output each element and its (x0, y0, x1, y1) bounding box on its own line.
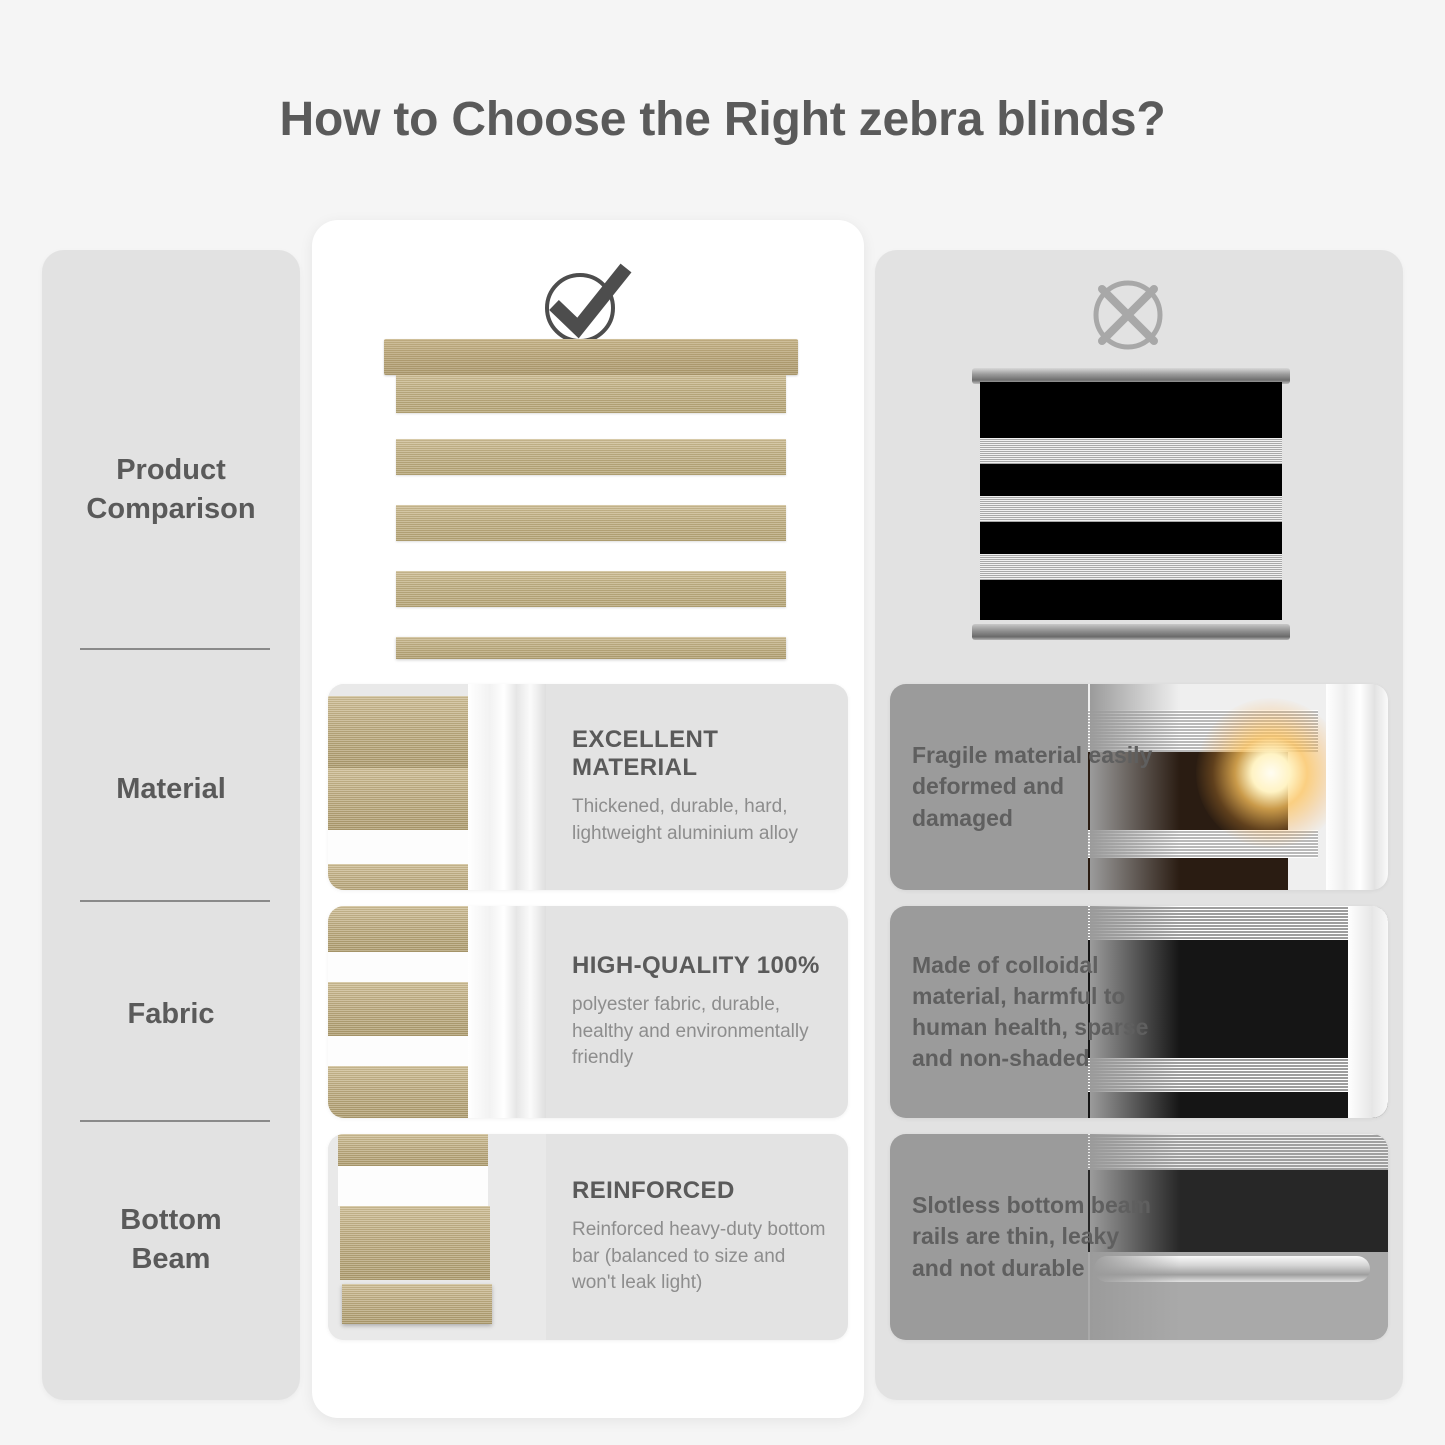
bad-feature-text-fabric: Made of colloidal material, harmful to h… (912, 906, 1162, 1118)
blind-band (396, 439, 786, 475)
good-feature-card-material: EXCELLENT MATERIAL Thickened, durable, h… (328, 684, 848, 890)
blind-band (396, 375, 786, 413)
good-feature-desc-material: Thickened, durable, hard, lightweight al… (572, 794, 834, 848)
sidebar-label-material: Material (116, 770, 226, 809)
page-title: How to Choose the Right zebra blinds? (0, 92, 1445, 147)
black-zebra-blind-image (972, 368, 1290, 640)
sidebar-divider-2 (80, 900, 270, 902)
category-sidebar: Product Comparison Material Fabric Botto… (42, 250, 300, 1400)
blind-band (396, 505, 786, 541)
sidebar-divider-1 (80, 648, 270, 650)
good-feature-card-bottom-beam: REINFORCED Reinforced heavy-duty bottom … (328, 1134, 848, 1340)
sidebar-row-fabric: Fabric (42, 975, 300, 1055)
bad-feature-text-bottom-beam: Slotless bottom beam rails are thin, lea… (912, 1134, 1162, 1340)
sidebar-row-bottom-beam: Bottom Beam (42, 1180, 300, 1300)
good-feature-photo-fabric (328, 906, 546, 1118)
blind-fabric (980, 382, 1282, 620)
bad-feature-card-bottom-beam: Slotless bottom beam rails are thin, lea… (890, 1134, 1388, 1340)
sidebar-label-bottom-beam: Bottom Beam (120, 1201, 221, 1279)
sidebar-label-fabric: Fabric (127, 995, 214, 1034)
bad-feature-card-fabric: Made of colloidal material, harmful to h… (890, 906, 1388, 1118)
good-feature-desc-fabric: polyester fabric, durable, healthy and e… (572, 992, 834, 1073)
good-feature-desc-bottom-beam: Reinforced heavy-duty bottom bar (balanc… (572, 1217, 834, 1298)
good-feature-text-bottom-beam: REINFORCED Reinforced heavy-duty bottom … (572, 1134, 834, 1340)
good-feature-text-material: EXCELLENT MATERIAL Thickened, durable, h… (572, 684, 834, 890)
check-circle-icon (538, 258, 638, 348)
sidebar-divider-3 (80, 1120, 270, 1122)
sidebar-label-product-comparison: Product Comparison (86, 451, 255, 529)
good-feature-photo-material (328, 684, 546, 890)
bad-feature-desc-fabric: Made of colloidal material, harmful to h… (912, 950, 1162, 1074)
sidebar-row-material: Material (42, 750, 300, 830)
good-feature-text-fabric: HIGH-QUALITY 100% polyester fabric, dura… (572, 906, 834, 1118)
good-feature-card-fabric: HIGH-QUALITY 100% polyester fabric, dura… (328, 906, 848, 1118)
blind-bottom-bar (972, 624, 1290, 640)
bad-feature-desc-bottom-beam: Slotless bottom beam rails are thin, lea… (912, 1190, 1162, 1283)
bad-feature-card-material: Fragile material easily deformed and dam… (890, 684, 1388, 890)
blind-band (396, 571, 786, 607)
sidebar-row-product-comparison: Product Comparison (42, 430, 300, 550)
cross-circle-icon (1085, 272, 1171, 358)
bad-feature-text-material: Fragile material easily deformed and dam… (912, 684, 1162, 890)
blind-headrail (384, 339, 798, 375)
blind-bottom-bar (396, 637, 786, 659)
beige-zebra-blind-image (384, 339, 798, 669)
bad-feature-desc-material: Fragile material easily deformed and dam… (912, 740, 1162, 833)
good-feature-photo-bottom-beam (328, 1134, 546, 1340)
good-feature-title-fabric: HIGH-QUALITY 100% (572, 952, 834, 980)
good-feature-title-material: EXCELLENT MATERIAL (572, 726, 834, 782)
good-feature-title-bottom-beam: REINFORCED (572, 1177, 834, 1205)
